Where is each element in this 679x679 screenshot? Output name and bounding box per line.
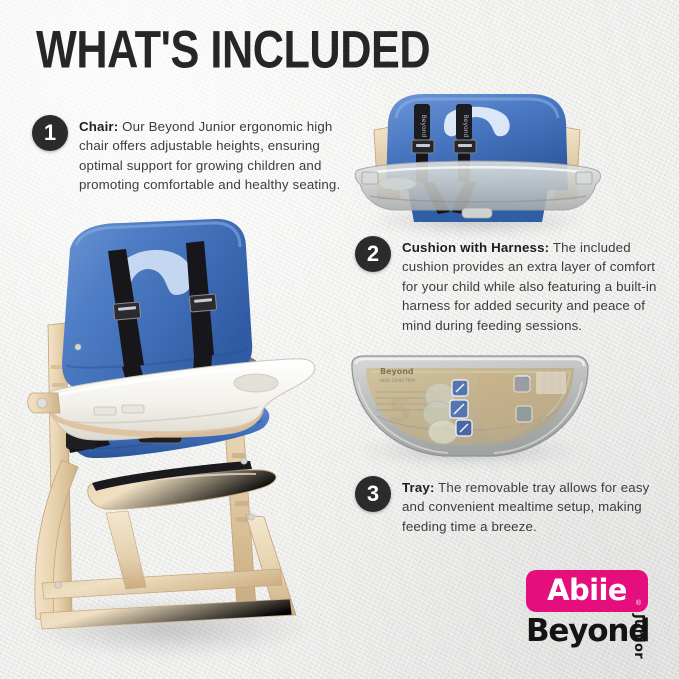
brand-name: Abiie (547, 576, 627, 605)
page-title: WHAT'S INCLUDED (36, 18, 430, 80)
feature-heading-1: Chair: (79, 119, 118, 134)
high-chair-photo (18, 215, 318, 645)
brand-variant: Junior (631, 614, 646, 659)
svg-text:Beyond: Beyond (420, 115, 427, 138)
feature-number-badge-1: 1 (32, 115, 68, 151)
infographic-canvas: WHAT'S INCLUDED 1 Chair: Our Beyond Juni… (0, 0, 679, 679)
feature-text-1: Chair: Our Beyond Junior ergonomic high … (79, 117, 347, 195)
svg-text:HIGH CHAIR TRAY: HIGH CHAIR TRAY (380, 378, 416, 383)
feature-body-1: Our Beyond Junior ergonomic high chair o… (79, 119, 340, 192)
brand-pill: Abiie ® (526, 570, 648, 612)
removable-tray-photo: Beyond HIGH CHAIR TRAY 5 (348, 352, 593, 462)
svg-text:Beyond: Beyond (380, 367, 414, 376)
feature-heading-2: Cushion with Harness: (402, 240, 549, 255)
svg-text:Beyond: Beyond (462, 115, 469, 138)
brand-logo: Abiie ® Beyond Junior (520, 570, 670, 662)
feature-number-badge-2: 2 (355, 236, 391, 272)
feature-text-3: Tray: The removable tray allows for easy… (402, 478, 664, 536)
cushion-with-harness-photo: Beyond Beyond (352, 86, 602, 226)
feature-body-3: The removable tray allows for easy and c… (402, 480, 649, 534)
svg-text:5: 5 (388, 391, 412, 431)
feature-number-badge-3: 3 (355, 476, 391, 512)
feature-text-2: Cushion with Harness: The included cushi… (402, 238, 670, 335)
feature-heading-3: Tray: (402, 480, 435, 495)
registered-trademark-icon: ® (636, 600, 641, 607)
